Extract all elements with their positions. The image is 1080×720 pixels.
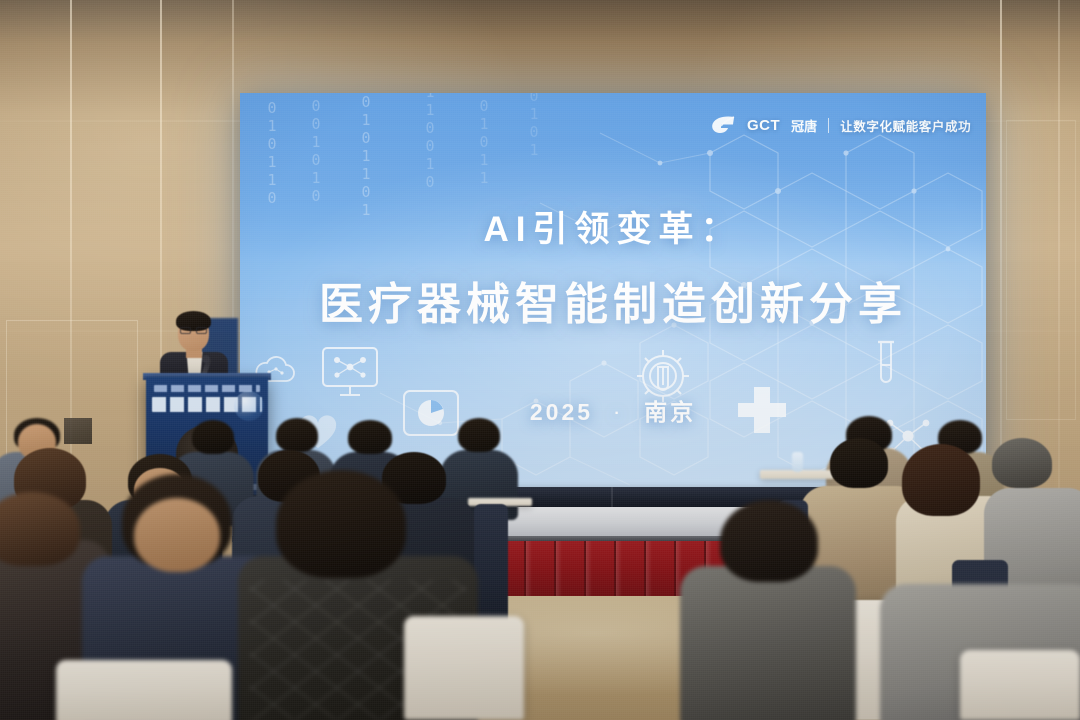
attendee-hair (992, 438, 1052, 488)
chair (56, 660, 232, 720)
screen-panel-seam (611, 487, 613, 509)
attendee-hair (720, 500, 818, 582)
microphone-head (202, 355, 210, 363)
chair-dark-back (474, 504, 508, 630)
wall-panel-inset (1006, 120, 1076, 420)
attendee-hair (458, 418, 500, 452)
water-bottle (792, 452, 803, 472)
attendee-hair (192, 420, 234, 454)
attendee-hair (276, 470, 406, 578)
attendee-hair (348, 420, 392, 454)
attendee-hair (276, 418, 318, 452)
attendee-hair (830, 438, 888, 488)
wall-socket-panel (64, 418, 92, 444)
speaker-glasses (180, 327, 191, 334)
attendee-hair-long (902, 444, 980, 516)
chair (404, 616, 524, 720)
conference-photo-scene: 010110 1001010 0101101 110010 01011 0101 (0, 0, 1080, 720)
attendee-torso (680, 566, 856, 720)
lectern-graphic-orb (234, 391, 264, 421)
speaker-glasses (196, 327, 207, 334)
chair (960, 650, 1080, 720)
attendee-head (134, 498, 220, 572)
